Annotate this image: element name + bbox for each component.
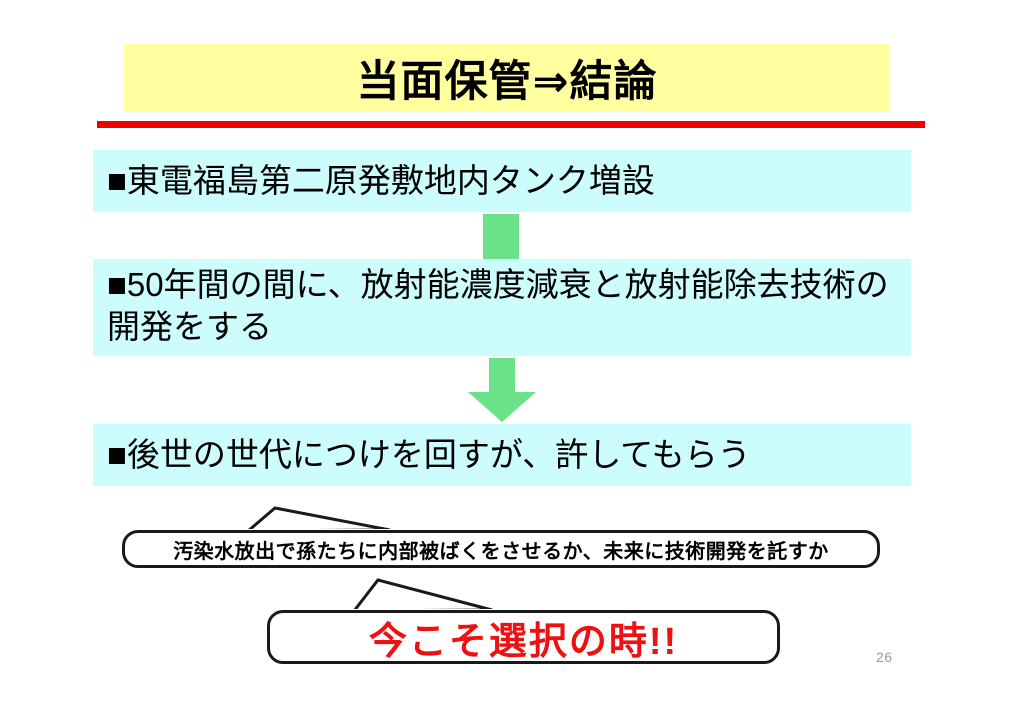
bullet-text-2: ■50年間の間に、放射能濃度減衰と放射能除去技術の開発をする <box>107 264 905 348</box>
connector-bar-icon <box>483 214 519 259</box>
slide-canvas: 当面保管⇒結論 ■東電福島第二原発敷地内タンク増設 ■50年間の間に、放射能濃度… <box>0 0 1024 724</box>
down-arrow-icon <box>463 358 541 422</box>
bullet-text-3: ■後世の世代につけを回すが、許してもらう <box>107 434 751 476</box>
page-title: 当面保管⇒結論 <box>124 44 890 112</box>
page-number: 26 <box>876 649 893 665</box>
bullet-block-1: ■東電福島第二原発敷地内タンク増設 <box>93 150 911 212</box>
bullet-text-1: ■東電福島第二原発敷地内タンク増設 <box>107 160 655 202</box>
bullet-block-2: ■50年間の間に、放射能濃度減衰と放射能除去技術の開発をする <box>93 259 911 356</box>
callout-text-2: 今こそ選択の時!! <box>267 610 780 664</box>
bullet-block-3: ■後世の世代につけを回すが、許してもらう <box>93 424 911 486</box>
callout-text-1: 汚染水放出で孫たちに内部被ばくをさせるか、未来に技術開発を託すか <box>122 530 880 568</box>
title-divider-rule <box>97 121 925 128</box>
